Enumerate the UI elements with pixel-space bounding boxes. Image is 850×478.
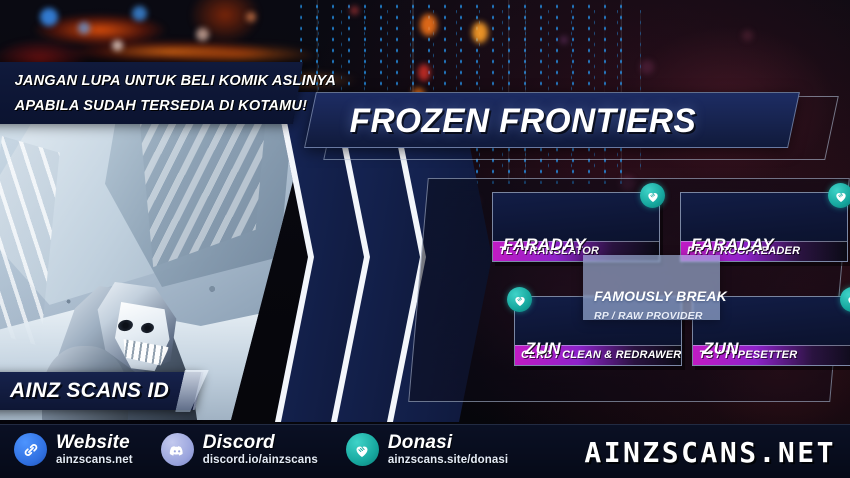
bokeh-dot	[350, 6, 359, 15]
credit-name: FARADAY	[503, 235, 586, 255]
notice-line-2: APABILA SUDAH TERSEDIA DI KOTAMU!	[15, 93, 283, 118]
heart-hands-icon	[507, 287, 532, 312]
heart-hands-icon	[828, 183, 850, 208]
footer-link-text: Donasi ainzscans.site/donasi	[388, 433, 508, 466]
overlay-credit-card: FAMOUSLY BREAK RP / RAW PROVIDER	[583, 255, 720, 320]
footer-bar: Website ainzscans.net Discord discord.io…	[0, 424, 850, 478]
scanlation-logo-text: AINZ SCANS ID	[10, 376, 210, 406]
purchase-notice-banner: JANGAN LUPA UNTUK BELI KOMIK ASLINYA APA…	[0, 62, 303, 124]
bokeh-dot	[640, 60, 654, 74]
discord-icon	[161, 433, 194, 466]
bokeh-dot	[78, 22, 90, 34]
credit-name: ZUN	[525, 339, 561, 359]
notice-line-1: JANGAN LUPA UNTUK BELI KOMIK ASLINYA	[15, 68, 283, 93]
overlay-credit-role: RP / RAW PROVIDER	[594, 310, 703, 322]
footer-link-sub: ainzscans.net	[56, 454, 133, 466]
bokeh-dot	[40, 8, 58, 26]
overlay-credit-name: FAMOUSLY BREAK	[594, 288, 727, 304]
heart-hands-icon	[346, 433, 379, 466]
footer-link-discord[interactable]: Discord discord.io/ainzscans	[161, 433, 318, 466]
link-icon	[14, 433, 47, 466]
credit-card: FARADAY TL / TRANSLATOR	[492, 192, 660, 262]
bokeh-dot	[418, 64, 430, 81]
series-title: FROZEN FRONTIERS	[350, 98, 801, 144]
footer-link-donasi[interactable]: Donasi ainzscans.site/donasi	[346, 433, 508, 466]
bokeh-dot	[196, 28, 209, 41]
bokeh-dot	[560, 36, 568, 44]
footer-link-sub: discord.io/ainzscans	[203, 454, 318, 466]
bokeh-dot	[112, 40, 123, 51]
credit-card-body: FARADAY	[493, 193, 659, 241]
bokeh-dot	[132, 6, 147, 21]
credits-page: JANGAN LUPA UNTUK BELI KOMIK ASLINYA APA…	[0, 0, 850, 478]
footer-link-title: Donasi	[388, 432, 453, 453]
bokeh-dot	[742, 30, 753, 41]
footer-link-text: Discord discord.io/ainzscans	[203, 433, 318, 466]
credit-card-body: FARADAY	[681, 193, 847, 241]
credit-name: ZUN	[703, 339, 739, 359]
footer-link-sub: ainzscans.site/donasi	[388, 454, 508, 466]
footer-link-title: Website	[56, 432, 130, 453]
credit-name: FARADAY	[691, 235, 774, 255]
bokeh-dot	[472, 22, 488, 43]
footer-link-title: Discord	[203, 432, 275, 453]
footer-link-website[interactable]: Website ainzscans.net	[14, 433, 133, 466]
footer-link-text: Website ainzscans.net	[56, 433, 133, 466]
bokeh-dot	[246, 12, 256, 22]
bokeh-dot	[420, 14, 437, 36]
site-brand: AINZSCANS.NET	[584, 436, 836, 469]
credit-card: FARADAY PR / PROOFREADER	[680, 192, 848, 262]
footer-link-group: Website ainzscans.net Discord discord.io…	[14, 433, 508, 466]
heart-hands-icon	[640, 183, 665, 208]
